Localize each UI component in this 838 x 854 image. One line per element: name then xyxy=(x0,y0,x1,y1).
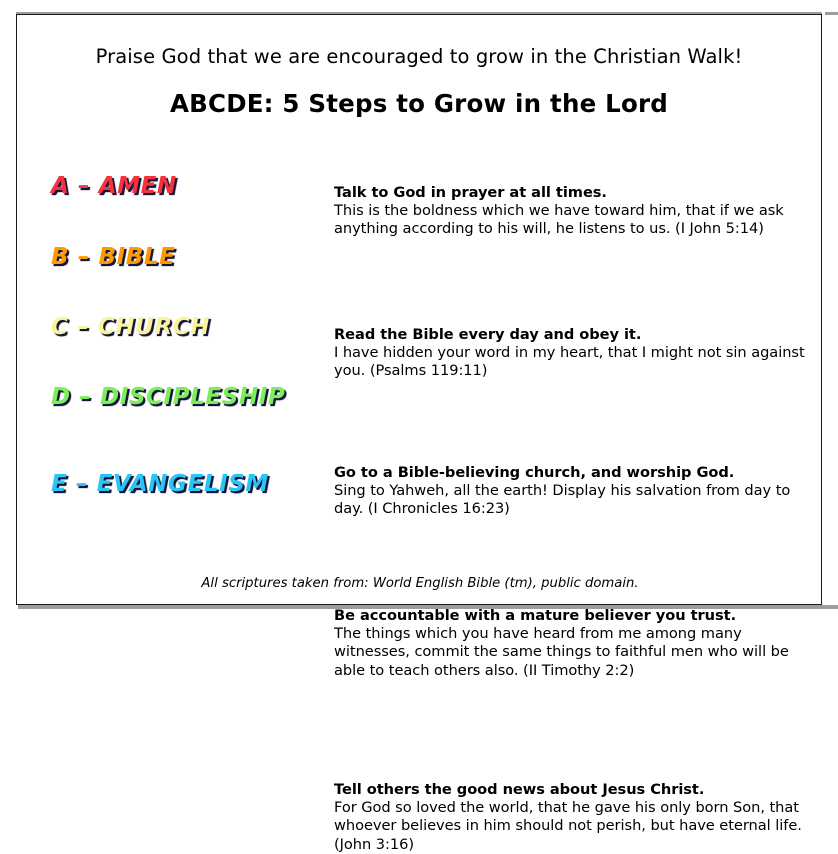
step-letter-label: C – CHURCH xyxy=(51,314,210,340)
footer-attribution: All scriptures taken from: World English… xyxy=(17,576,823,591)
step-headline: Be accountable with a mature believer yo… xyxy=(334,607,818,625)
step-letter-label: E – EVANGELISM xyxy=(51,471,269,497)
step-letter-label: B – BIBLE xyxy=(51,244,175,270)
step-scripture-text: For God so loved the world, that he gave… xyxy=(334,799,818,854)
step-scripture-text: Sing to Yahweh, all the earth! Display h… xyxy=(334,482,818,519)
step-headline: Talk to God in prayer at all times. xyxy=(334,184,818,202)
step-letter-label: D – DISCIPLESHIP xyxy=(51,384,285,410)
step-body: Read the Bible every day and obey it.I h… xyxy=(334,326,818,381)
step-headline: Tell others the good news about Jesus Ch… xyxy=(334,781,818,799)
step-scripture-text: This is the boldness which we have towar… xyxy=(334,202,818,239)
slide-canvas: Praise God that we are encouraged to gro… xyxy=(16,14,822,605)
step-body: Tell others the good news about Jesus Ch… xyxy=(334,781,818,854)
step-body: Go to a Bible-believing church, and wors… xyxy=(334,464,818,519)
step-body: Be accountable with a mature believer yo… xyxy=(334,607,818,680)
slide-frame-right-edge xyxy=(822,12,825,609)
step-headline: Read the Bible every day and obey it. xyxy=(334,326,818,344)
step-letter-label: A – AMEN xyxy=(51,173,177,199)
step-scripture-text: The things which you have heard from me … xyxy=(334,625,818,680)
step-headline: Go to a Bible-believing church, and wors… xyxy=(334,464,818,482)
step-body: Talk to God in prayer at all times.This … xyxy=(334,184,818,239)
slide-subtitle: Praise God that we are encouraged to gro… xyxy=(17,45,821,68)
step-scripture-text: I have hidden your word in my heart, tha… xyxy=(334,344,818,381)
slide-frame-bottom-edge xyxy=(18,605,838,609)
page-title: ABCDE: 5 Steps to Grow in the Lord xyxy=(17,89,821,118)
